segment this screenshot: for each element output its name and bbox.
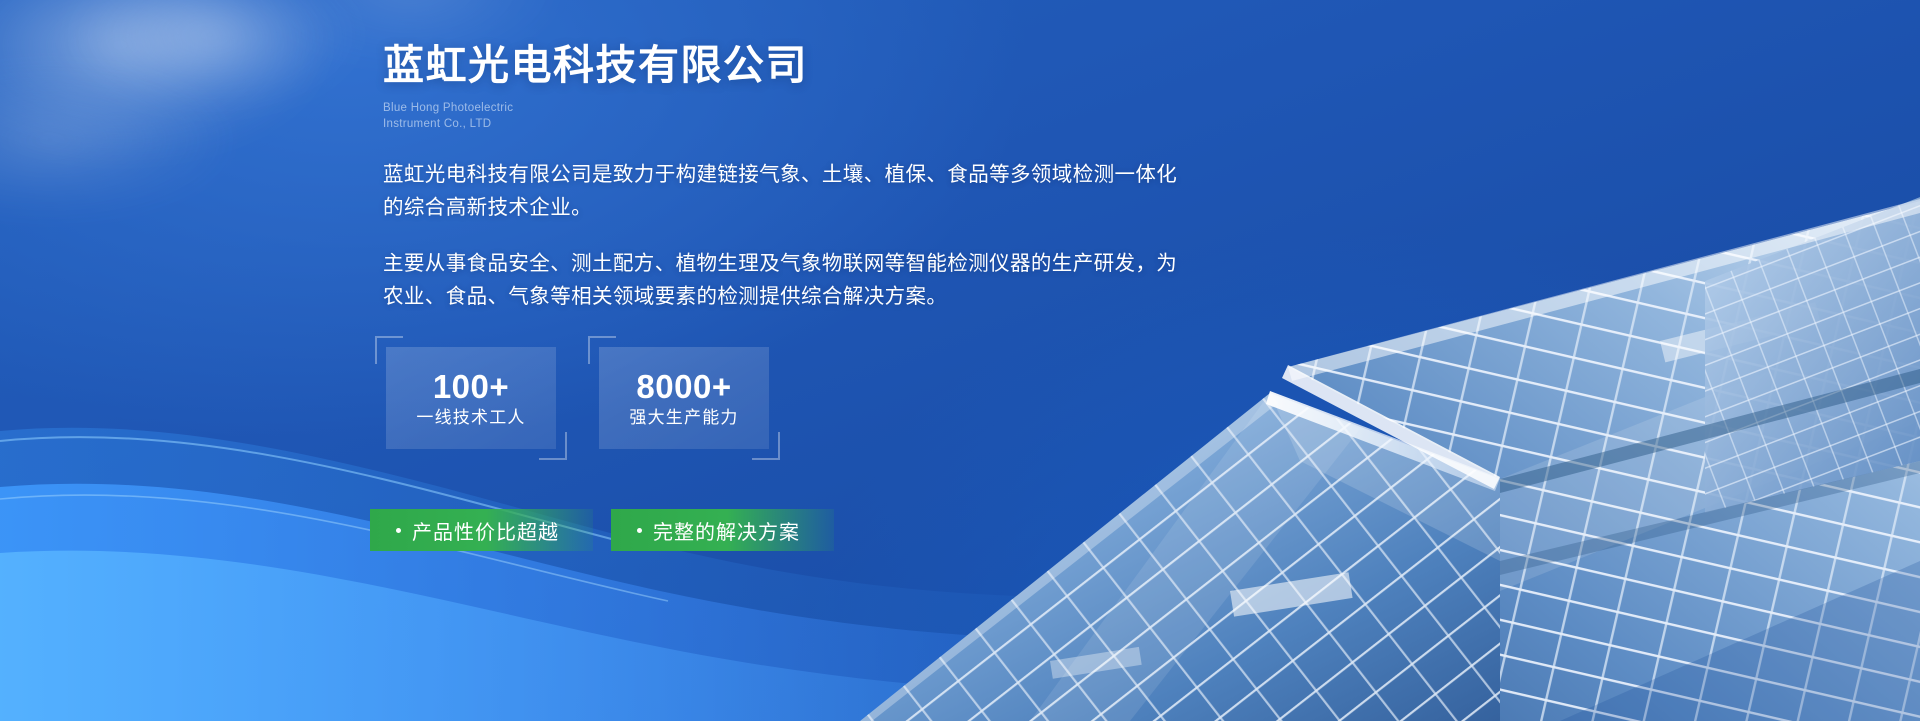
bullet-dot-icon [637,528,642,533]
stat-card: 8000+ 强大生产能力 [599,347,769,449]
company-subtitle: Blue Hong Photoelectric Instrument Co., … [383,101,1583,132]
intro-paragraph-1: 蓝虹光电科技有限公司是致力于构建链接气象、土壤、植保、食品等多领域检测一体化的综… [383,158,1183,224]
cloud-wisp [0,60,240,220]
page-title: 蓝虹光电科技有限公司 [383,40,1583,91]
subtitle-line-2: Instrument Co., LTD [383,117,1583,133]
feature-tag: 产品性价比超越 [370,509,593,551]
intro-paragraph-2: 主要从事食品安全、测土配方、植物生理及气象物联网等智能检测仪器的生产研发，为农业… [383,247,1183,313]
stat-label: 强大生产能力 [629,409,738,426]
feature-tag: 完整的解决方案 [611,509,834,551]
stats-row: 100+ 一线技术工人 8000+ 强大生产能力 [386,347,1583,449]
stat-label: 一线技术工人 [416,409,525,426]
cloud-wisp [60,0,360,110]
stat-number: 8000+ [636,370,731,403]
feature-tag-label: 完整的解决方案 [653,516,800,545]
subtitle-line-1: Blue Hong Photoelectric [383,101,1583,117]
feature-tag-row: 产品性价比超越 完整的解决方案 [370,509,1583,551]
hero-content: 蓝虹光电科技有限公司 Blue Hong Photoelectric Instr… [383,0,1583,551]
hero-banner: 蓝虹光电科技有限公司 Blue Hong Photoelectric Instr… [0,0,1920,721]
feature-tag-label: 产品性价比超越 [412,516,559,545]
cloud-wisp [0,0,330,160]
stat-card: 100+ 一线技术工人 [386,347,556,449]
bullet-dot-icon [396,528,401,533]
stat-number: 100+ [433,370,509,403]
